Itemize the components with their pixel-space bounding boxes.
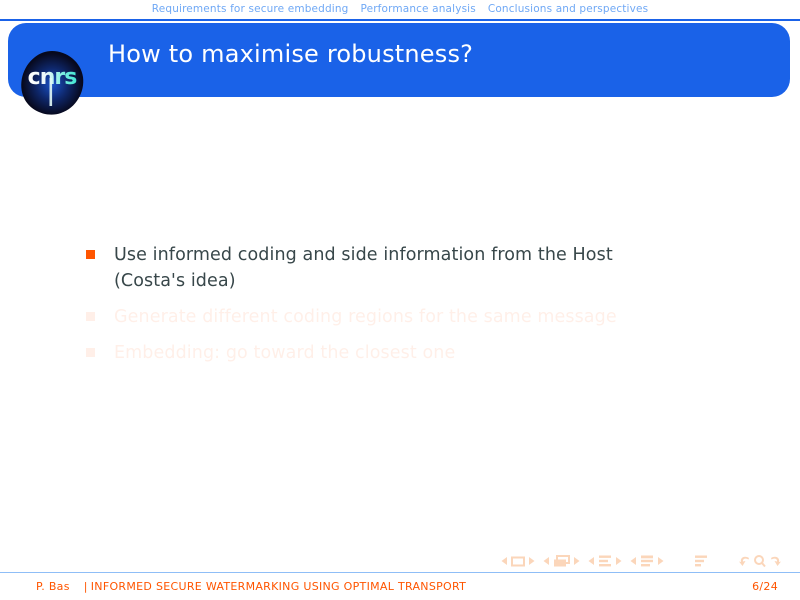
beamer-navigation-symbols[interactable] [501, 554, 782, 568]
frame-nav-icon[interactable] [543, 555, 580, 568]
headline-rule [0, 19, 800, 21]
bullet-list: Use informed coding and side information… [86, 242, 726, 376]
back-find-forward-icon[interactable] [738, 554, 782, 568]
slide-title: How to maximise robustness? [108, 42, 473, 66]
footer-presentation-title: INFORMED SECURE WATERMARKING USING OPTIM… [91, 581, 466, 592]
bullet-square-icon [86, 250, 95, 259]
footer-separator: | [84, 581, 88, 592]
slide-nav-icon[interactable] [501, 556, 535, 567]
headline-navigation: Requirements for secure embedding Perfor… [0, 0, 800, 19]
bullet-item-2: Generate different coding regions for th… [86, 304, 726, 330]
footer-bar: P. Bas | INFORMED SECURE WATERMARKING US… [0, 573, 800, 600]
nav-section-conclusions[interactable]: Conclusions and perspectives [488, 4, 648, 15]
bullet-square-icon [86, 312, 95, 321]
document-nav-icon[interactable] [694, 555, 708, 567]
footer-page-number: 6/24 [752, 581, 778, 592]
svg-text:cnrs: cnrs [28, 65, 78, 90]
subsection-nav-icon[interactable] [588, 555, 622, 567]
bullet-item-1: Use informed coding and side information… [86, 242, 726, 294]
footer-author: P. Bas [36, 581, 70, 592]
bullet-item-1-text: Use informed coding and side information… [114, 242, 689, 294]
section-nav-icon[interactable] [630, 555, 664, 567]
nav-section-performance[interactable]: Performance analysis [360, 4, 475, 15]
bullet-item-3-text: Embedding: go toward the closest one [114, 340, 455, 366]
slide-body: Use informed coding and side information… [0, 97, 800, 542]
nav-section-requirements[interactable]: Requirements for secure embedding [152, 4, 349, 15]
bullet-item-3: Embedding: go toward the closest one [86, 340, 726, 366]
bullet-item-2-text: Generate different coding regions for th… [114, 304, 617, 330]
bullet-square-icon [86, 348, 95, 357]
slide-title-bar: cnrs How to maximise robustness? [8, 23, 790, 97]
